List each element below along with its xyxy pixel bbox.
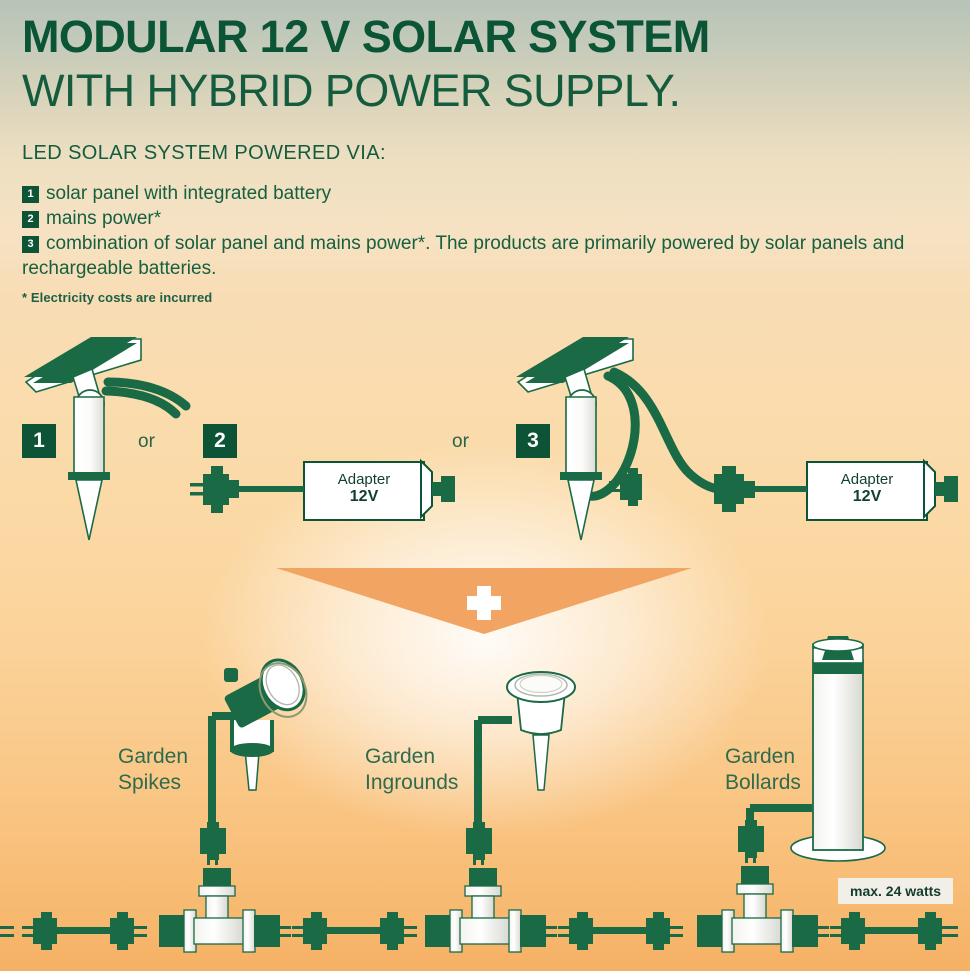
adapter-box-1: Adapter 12V [303,461,425,521]
product-label-garden-ingrounds: Garden Ingrounds [365,744,458,796]
mains-plug-icon [190,466,304,513]
list-item-label: solar panel with integrated battery [46,183,331,204]
product-label-line2: Spikes [118,770,188,796]
cable-connector-icon [714,466,807,512]
extension-cable-icon [830,912,958,950]
cable-connector-icon [466,822,492,865]
cable-connector-icon [200,822,226,865]
adapter-label: Adapter [305,472,423,488]
cable-connector-icon [738,820,764,863]
list-item-label: mains power* [46,208,161,229]
max-wattage-badge: max. 24 watts [838,878,953,904]
adapter-voltage: 12V [808,488,926,505]
product-label-line1: Garden [725,744,801,770]
tee-connector-icon [697,910,829,952]
list-number-badge: 1 [22,186,39,203]
product-label-garden-bollards: Garden Bollards [725,744,801,796]
list-item-label: combination of solar panel and mains pow… [22,233,904,279]
adapter-box-2: Adapter 12V [806,461,928,521]
product-label-line1: Garden [365,744,458,770]
list-number-badge: 2 [22,211,39,228]
tee-connector-icon [159,910,291,952]
option-badge-1: 1 [22,424,56,458]
product-label-line2: Bollards [725,770,801,796]
cable-connector-icon [0,926,14,937]
product-label-garden-spikes: Garden Spikes [118,744,188,796]
page-title-line1: MODULAR 12 V SOLAR SYSTEM [22,14,710,59]
product-label-line2: Ingrounds [365,770,458,796]
cable-connector-icon [609,468,642,506]
tee-connector-icon [425,910,557,952]
garden-spike-light-icon [199,652,316,920]
list-item: 3combination of solar panel and mains po… [22,231,952,281]
extension-cable-icon [292,912,417,950]
footnote: * Electricity costs are incurred [22,290,212,305]
funnel-arrow-icon [276,568,692,634]
or-label-2: or [452,431,469,453]
adapter-voltage: 12V [305,488,423,505]
page-title-line2: WITH HYBRID POWER SUPPLY. [22,68,680,113]
product-label-line1: Garden [118,744,188,770]
subheading: LED SOLAR SYSTEM POWERED VIA: [22,142,386,165]
list-item: 2mains power* [22,206,952,231]
option-badge-2: 2 [203,424,237,458]
list-number-badge: 3 [22,236,39,253]
infographic-poster: MODULAR 12 V SOLAR SYSTEM WITH HYBRID PO… [0,0,970,971]
extension-cable-icon [22,912,147,950]
adapter-output-connector-icon [421,461,455,517]
adapter-output-connector-icon [924,461,958,517]
adapter-label: Adapter [808,472,926,488]
power-source-list: 1solar panel with integrated battery 2ma… [22,181,952,281]
or-label-1: or [138,431,155,453]
list-item: 1solar panel with integrated battery [22,181,952,206]
option-badge-3: 3 [516,424,550,458]
garden-inground-light-icon [465,672,575,920]
extension-cable-icon [558,912,683,950]
